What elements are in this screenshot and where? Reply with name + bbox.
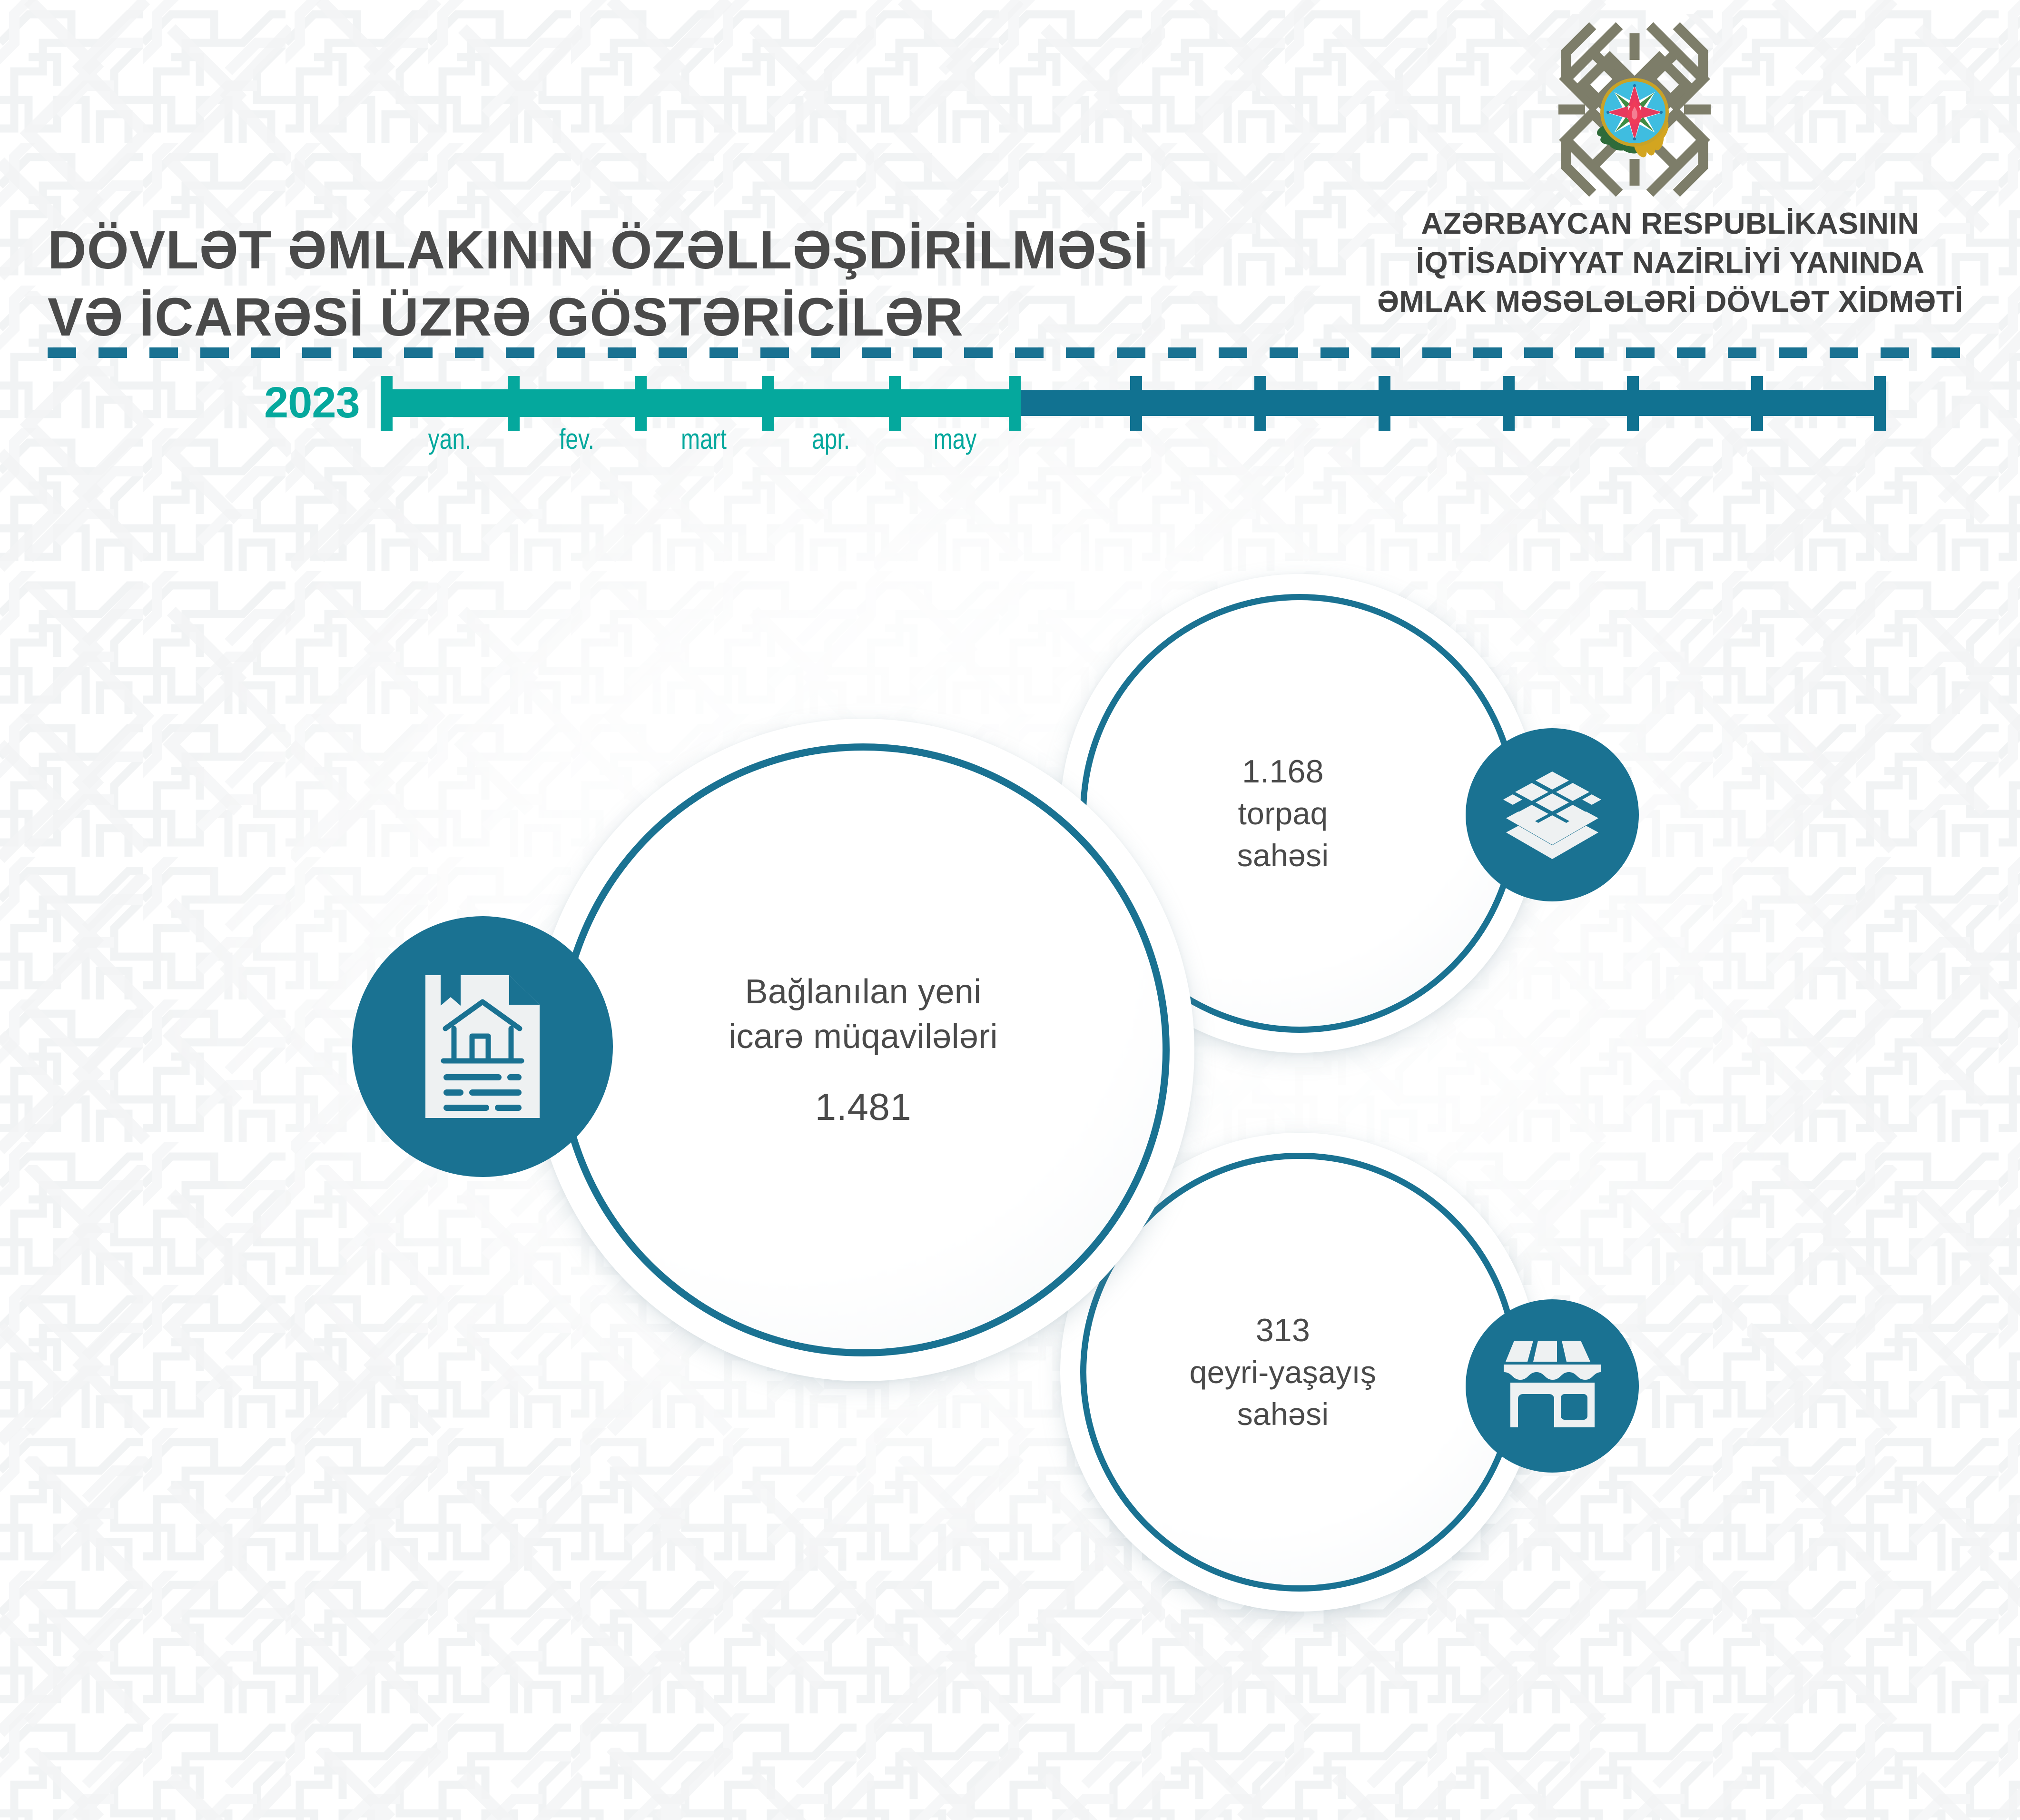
main-value: 1.481 (815, 1084, 912, 1130)
timeline-month-may: may (908, 423, 1001, 455)
land-label-line-1: torpaq (1238, 793, 1328, 835)
nonresidential-label-line-1: qeyri-yaşayış (1190, 1352, 1377, 1394)
document-house-icon (425, 975, 540, 1118)
page-title: DÖVLƏT ƏMLAKININ ÖZƏLLƏŞDİRİLMƏSİ VƏ İCA… (48, 217, 1149, 351)
layers-icon-disc[interactable] (1466, 728, 1639, 901)
timeline-remaining-bar (1016, 390, 1881, 416)
main-caption-line-2: icarə müqavilələri (729, 1015, 998, 1059)
timeline-elapsed-bar (381, 389, 1016, 417)
org-name-line-1: AZƏRBAYCAN RESPUBLİKASININ (1347, 205, 1994, 244)
nonresidential-value: 313 (1256, 1309, 1310, 1352)
organization-name: AZƏRBAYCAN RESPUBLİKASININ İQTİSADİYYAT … (1347, 205, 1994, 322)
main-caption-line-1: Bağlanılan yeni (745, 970, 982, 1015)
header: DÖVLƏT ƏMLAKININ ÖZƏLLƏŞDİRİLMƏSİ VƏ İCA… (0, 0, 2020, 362)
org-name-line-3: ƏMLAK MƏSƏLƏLƏRİ DÖVLƏT XİDMƏTİ (1347, 283, 1994, 322)
azerbaijan-state-emblem-knot-icon (1539, 14, 1730, 205)
layers-icon (1502, 765, 1602, 865)
timeline-track[interactable] (0, 376, 2020, 466)
shop-icon-disc[interactable] (1466, 1299, 1639, 1473)
metric-card-main[interactable]: Bağlanılan yeni icarə müqavilələri 1.481 (532, 719, 1194, 1381)
org-name-line-2: İQTİSADİYYAT NAZİRLİYİ YANINDA (1347, 244, 1994, 283)
land-value: 1.168 (1242, 750, 1324, 793)
timeline-month-apr: apr. (784, 423, 877, 455)
nonresidential-label-line-2: sahəsi (1237, 1394, 1329, 1435)
metric-content-main: Bağlanılan yeni icarə müqavilələri 1.481 (532, 719, 1194, 1381)
land-label-line-2: sahəsi (1237, 835, 1329, 877)
dashed-divider (48, 347, 1975, 358)
shop-icon (1504, 1341, 1601, 1431)
page-title-line-1: DÖVLƏT ƏMLAKININ ÖZƏLLƏŞDİRİLMƏSİ (48, 217, 1149, 284)
timeline-month-mart: mart (657, 423, 750, 455)
timeline: 2023 yan. fev. mart apr. may (0, 376, 2020, 466)
timeline-month-fev: fev. (530, 423, 623, 455)
timeline-month-yan: yan. (403, 423, 496, 455)
page-title-line-2: VƏ İCARƏSİ ÜZRƏ GÖSTƏRİCİLƏR (48, 284, 1149, 351)
document-house-icon-disc[interactable] (352, 916, 613, 1177)
